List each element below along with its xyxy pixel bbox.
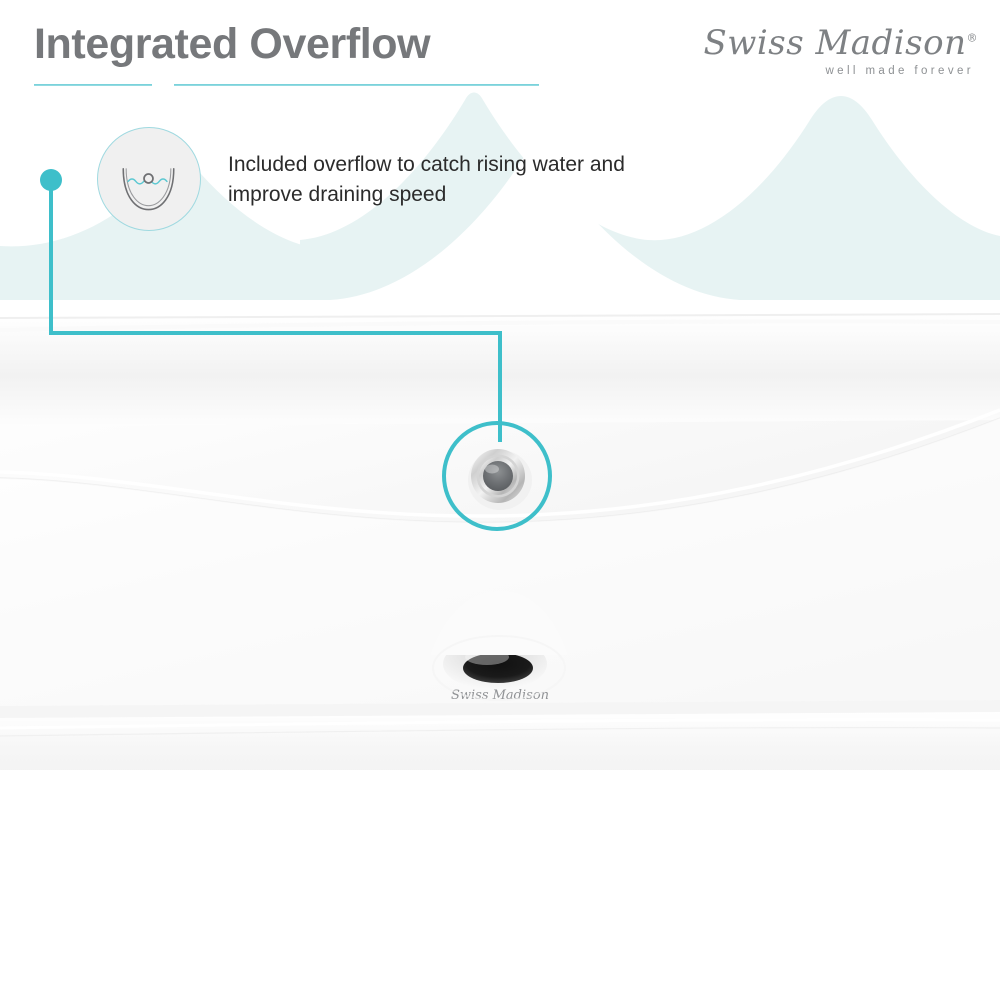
brand-name: Swiss Madison® [688,26,978,60]
title-underline [34,84,539,86]
feature-description-line-2: improve draining speed [228,180,708,210]
infographic-canvas: Integrated Overflow Swiss Madison® well … [0,0,1000,1000]
feature-description-line-1: Included overflow to catch rising water … [228,150,708,180]
registered-trademark-icon: ® [967,32,979,45]
brand-logo: Swiss Madison® well made forever [688,26,978,86]
overflow-basin-glyph [98,128,199,229]
brand-name-text: Swiss Madison [703,23,966,63]
sink-illustration: Swiss Madison [0,300,1000,770]
callout-marker-dot [40,169,62,191]
page-title-text: Integrated Overflow [34,22,430,67]
page-title: Integrated Overflow [34,22,430,67]
product-photo: Swiss Madison [0,300,1000,770]
overflow-basin-icon [97,127,201,231]
feature-description: Included overflow to catch rising water … [228,150,708,210]
brand-tagline: well made forever [688,65,978,77]
